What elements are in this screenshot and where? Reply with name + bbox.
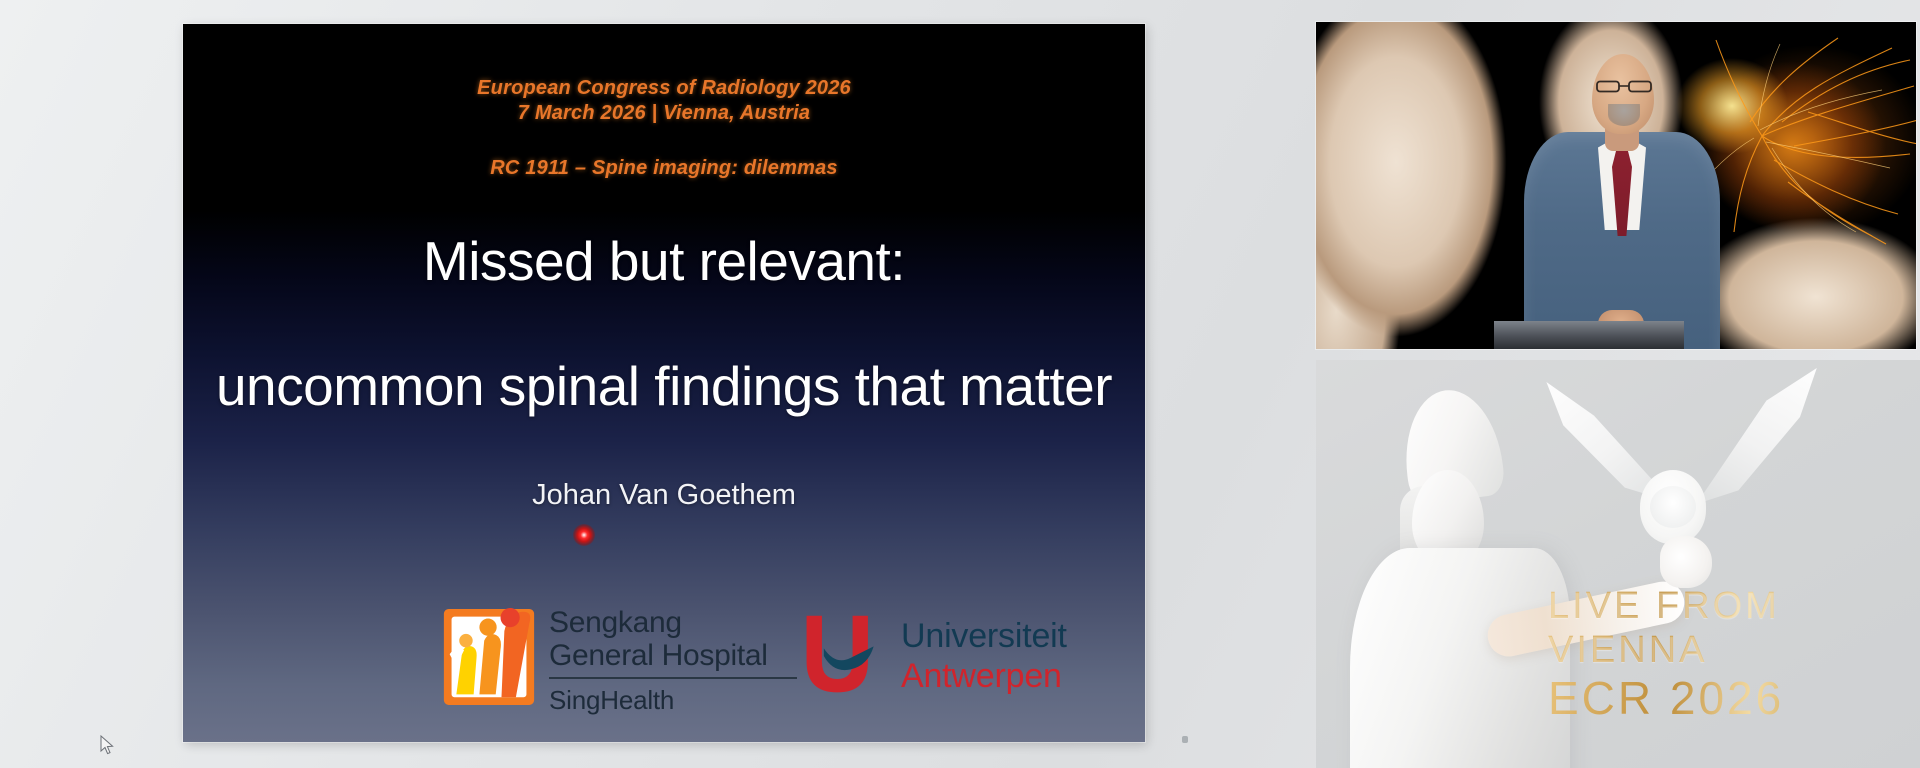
screen-root: European Congress of Radiology 2026 7 Ma… bbox=[0, 0, 1920, 768]
ecr-2026-label: ECR 2026 bbox=[1548, 672, 1920, 724]
sengkang-general-hospital-logo: Sengkang General Hospital SingHealth bbox=[441, 602, 797, 716]
speaker-beard bbox=[1608, 104, 1640, 126]
owl-wing-right bbox=[1688, 368, 1828, 504]
slide-session-code: RC 1911 – Spine imaging: dilemmas bbox=[183, 157, 1145, 180]
screen-speck bbox=[1182, 736, 1188, 743]
ecr-branding-feed[interactable]: LIVE FROM VIENNA ECR 2026 bbox=[1316, 360, 1920, 768]
antwerpen-logo-text: Universiteit Antwerpen bbox=[901, 616, 1067, 696]
slide-congress-header: European Congress of Radiology 2026 7 Ma… bbox=[183, 76, 1145, 126]
sengkang-name-line-1: Sengkang bbox=[549, 606, 797, 639]
presentation-slide[interactable]: European Congress of Radiology 2026 7 Ma… bbox=[183, 24, 1145, 742]
sengkang-name-line-2: General Hospital bbox=[549, 639, 797, 672]
sengkang-divider bbox=[549, 677, 797, 679]
slide-title-line-1: Missed but relevant: bbox=[183, 229, 1145, 293]
universiteit-antwerpen-logo: Universiteit Antwerpen bbox=[795, 610, 1067, 702]
slide-title-line-2: uncommon spinal findings that matter bbox=[183, 354, 1145, 418]
athena-hand bbox=[1660, 536, 1712, 588]
antwerpen-line-1: Universiteit bbox=[901, 616, 1067, 656]
antwerpen-logo-mark bbox=[795, 610, 891, 702]
athena-robe bbox=[1350, 548, 1570, 768]
eyeglasses-icon bbox=[1596, 80, 1652, 93]
live-from-vienna-label: LIVE FROM VIENNA bbox=[1548, 584, 1920, 672]
laser-pointer-dot bbox=[573, 524, 595, 546]
mouse-pointer-icon bbox=[100, 735, 114, 755]
speaker-video-feed[interactable] bbox=[1316, 22, 1916, 349]
antwerpen-line-2: Antwerpen bbox=[901, 656, 1067, 696]
date-location-line: 7 March 2026 | Vienna, Austria bbox=[183, 101, 1145, 126]
sengkang-logo-mark bbox=[441, 602, 537, 710]
speaker-podium bbox=[1494, 321, 1684, 349]
slide-author-name: Johan Van Goethem bbox=[183, 479, 1145, 512]
ecr-brand-text: LIVE FROM VIENNA ECR 2026 bbox=[1548, 584, 1920, 724]
owl-face bbox=[1650, 486, 1696, 528]
sengkang-logo-text: Sengkang General Hospital SingHealth bbox=[549, 602, 797, 716]
singhealth-label: SingHealth bbox=[549, 685, 797, 716]
congress-line: European Congress of Radiology 2026 bbox=[477, 77, 851, 99]
